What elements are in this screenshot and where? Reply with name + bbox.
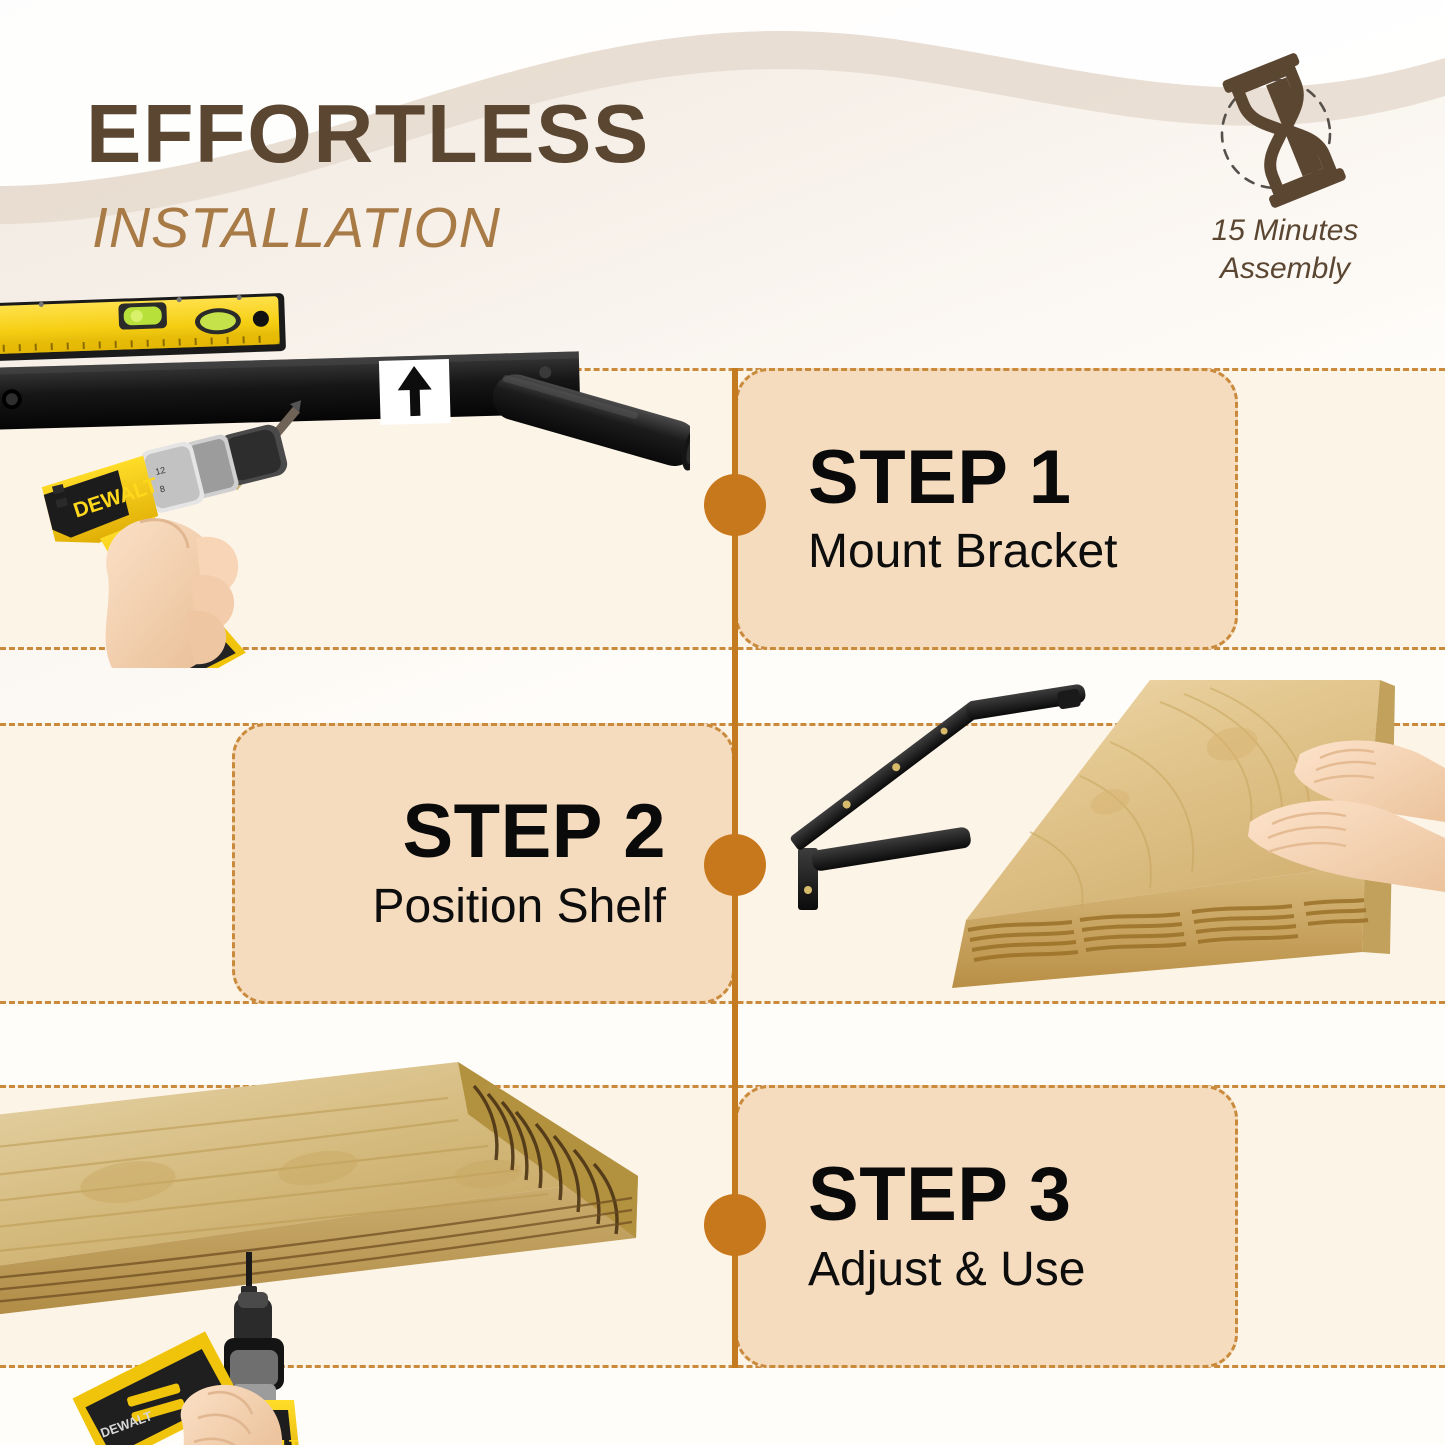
step-2-description: Position Shelf bbox=[372, 879, 666, 934]
adjust-and-use-photo: DEWALT DEWALT bbox=[0, 1058, 688, 1445]
step-card-3[interactable]: STEP 3 Adjust & Use bbox=[735, 1085, 1238, 1368]
assembly-time-line1: 15 Minutes bbox=[1160, 212, 1410, 250]
step-card-1[interactable]: STEP 1 Mount Bracket bbox=[735, 368, 1238, 650]
step-1-number: STEP 1 bbox=[808, 439, 1072, 517]
steps-timeline bbox=[730, 368, 740, 1368]
timeline-dot-step-3[interactable] bbox=[704, 1194, 766, 1256]
position-shelf-photo bbox=[780, 672, 1445, 1042]
step-2-number: STEP 2 bbox=[402, 793, 666, 871]
infographic-canvas: EFFORTLESS INSTALLATION 15 Minutes Assem… bbox=[0, 0, 1445, 1445]
header: EFFORTLESS INSTALLATION 15 Minutes Assem… bbox=[0, 0, 1445, 360]
assembly-time-line2: Assembly bbox=[1160, 250, 1410, 288]
assembly-time-text: 15 Minutes Assembly bbox=[1160, 212, 1410, 287]
step-3-number: STEP 3 bbox=[808, 1156, 1072, 1234]
assembly-time-badge: 15 Minutes Assembly bbox=[1160, 52, 1410, 302]
timeline-dot-step-2[interactable] bbox=[704, 834, 766, 896]
step-card-2[interactable]: STEP 2 Position Shelf bbox=[232, 723, 735, 1004]
page-title: EFFORTLESS bbox=[86, 92, 650, 175]
hourglass-icon bbox=[1204, 52, 1364, 212]
step-3-description: Adjust & Use bbox=[808, 1242, 1085, 1297]
page-subtitle: INSTALLATION bbox=[92, 200, 501, 257]
step-1-description: Mount Bracket bbox=[808, 524, 1117, 579]
timeline-dot-step-1[interactable] bbox=[704, 474, 766, 536]
